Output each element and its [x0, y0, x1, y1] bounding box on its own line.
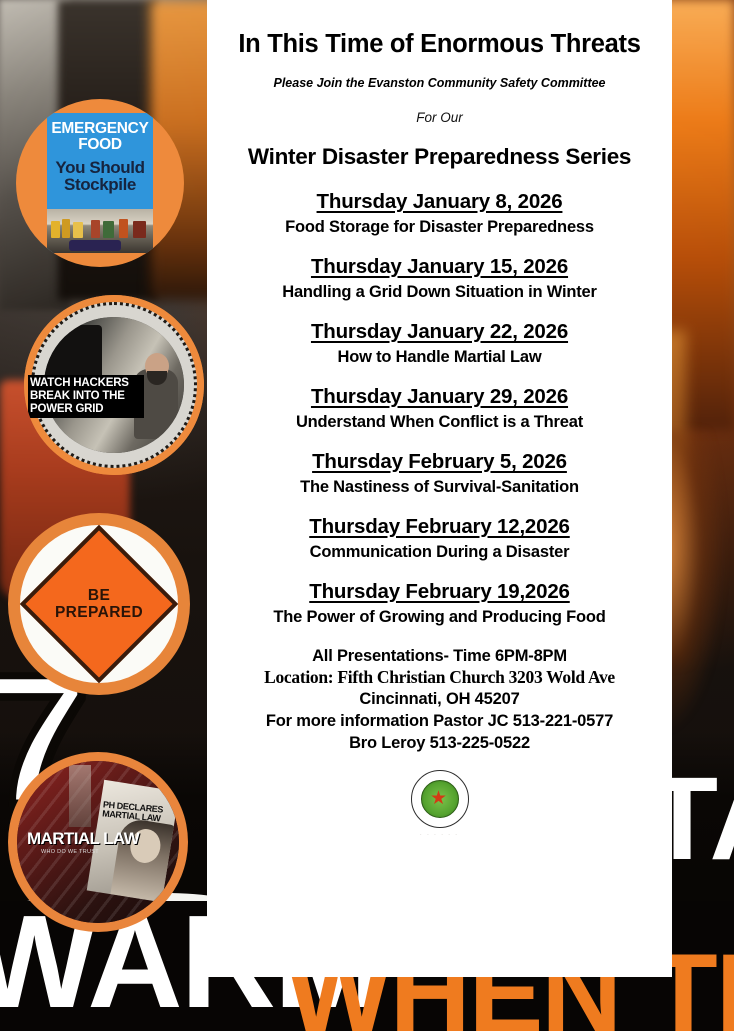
session-topic: Food Storage for Disaster Preparedness [221, 218, 658, 237]
session-date: Thursday January 8, 2026 [221, 190, 658, 214]
flyer-title: In This Time of Enormous Threats [221, 30, 658, 59]
emergency-food-heading: EMERGENCY FOOD [51, 121, 148, 154]
circle-image-emergency-food: EMERGENCY FOOD You Should Stockpile [16, 99, 184, 267]
footer-location: Location: Fifth Christian Church 3203 Wo… [221, 667, 658, 688]
flyer-series-title: Winter Disaster Preparedness Series [221, 144, 658, 170]
seal-green-disc [421, 780, 459, 818]
session-topic: Handling a Grid Down Situation in Winter [221, 283, 658, 302]
be-prepared-diamond-sign: BE PREPARED [20, 525, 178, 683]
organization-seal-logo [411, 770, 469, 828]
circle-image-martial-law: PH DECLARES MARTIAL LAW MARTIAL LAW WHO … [8, 752, 188, 932]
emergency-food-heading-line1: EMERGENCY [51, 120, 148, 137]
session-date: Thursday February 5, 2026 [221, 450, 658, 474]
footer-time: All Presentations- Time 6PM-8PM [221, 645, 658, 667]
session-item: Thursday February 5, 2026 The Nastiness … [221, 450, 658, 497]
session-date: Thursday January 22, 2026 [221, 320, 658, 344]
session-topic: Communication During a Disaster [221, 543, 658, 562]
emergency-food-heading-line2: FOOD [78, 136, 122, 153]
be-prepared-line2: PREPARED [55, 604, 143, 621]
emergency-food-panel: EMERGENCY FOOD You Should Stockpile [47, 113, 153, 253]
circle-image-power-grid-hackers: WATCH HACKERS BREAK INTO THE POWER GRID [24, 295, 204, 475]
session-date: Thursday January 15, 2026 [221, 255, 658, 279]
flyer-content-panel: In This Time of Enormous Threats Please … [207, 0, 672, 977]
emergency-food-subheading-line1: You Should [55, 158, 144, 177]
be-prepared-white-disc: BE PREPARED [20, 525, 178, 683]
session-item: Thursday February 12,2026 Communication … [221, 515, 658, 562]
be-prepared-line1: BE [88, 587, 110, 604]
session-item: Thursday January 8, 2026 Food Storage fo… [221, 190, 658, 237]
session-topic: The Nastiness of Survival-Sanitation [221, 478, 658, 497]
session-date: Thursday February 19,2026 [221, 580, 658, 604]
martial-law-title: MARTIAL LAW [27, 829, 139, 849]
martial-law-collage: PH DECLARES MARTIAL LAW MARTIAL LAW WHO … [17, 761, 179, 923]
session-item: Thursday January 15, 2026 Handling a Gri… [221, 255, 658, 302]
power-grid-caption: WATCH HACKERS BREAK INTO THE POWER GRID [28, 375, 144, 418]
session-topic: Understand When Conflict is a Threat [221, 413, 658, 432]
be-prepared-sign-text: BE PREPARED [55, 587, 143, 621]
session-topic: The Power of Growing and Producing Food [221, 608, 658, 627]
session-topic: How to Handle Martial Law [221, 348, 658, 367]
martial-law-subtitle: WHO DO WE TRUST [41, 849, 99, 855]
pantry-shelf-photo [47, 209, 153, 253]
session-item: Thursday February 19,2026 The Power of G… [221, 580, 658, 627]
session-date: Thursday February 12,2026 [221, 515, 658, 539]
circle-image-be-prepared-sign: BE PREPARED [8, 513, 190, 695]
footer-contact-primary: For more information Pastor JC 513-221-0… [221, 710, 658, 732]
emergency-food-subheading: You Should Stockpile [55, 159, 144, 195]
seal-caption-text: · · · · · · [221, 832, 658, 838]
emergency-food-subheading-line2: Stockpile [64, 175, 136, 194]
flyer-invitation-line: Please Join the Evanston Community Safet… [221, 76, 658, 90]
footer-contact-secondary: Bro Leroy 513-225-0522 [221, 732, 658, 754]
session-item: Thursday January 29, 2026 Understand Whe… [221, 385, 658, 432]
session-date: Thursday January 29, 2026 [221, 385, 658, 409]
footer-city-state-zip: Cincinnati, OH 45207 [221, 688, 658, 710]
flyer-footer: All Presentations- Time 6PM-8PM Location… [221, 645, 658, 838]
flyer-for-our-line: For Our [221, 110, 658, 125]
session-item: Thursday January 22, 2026 How to Handle … [221, 320, 658, 367]
